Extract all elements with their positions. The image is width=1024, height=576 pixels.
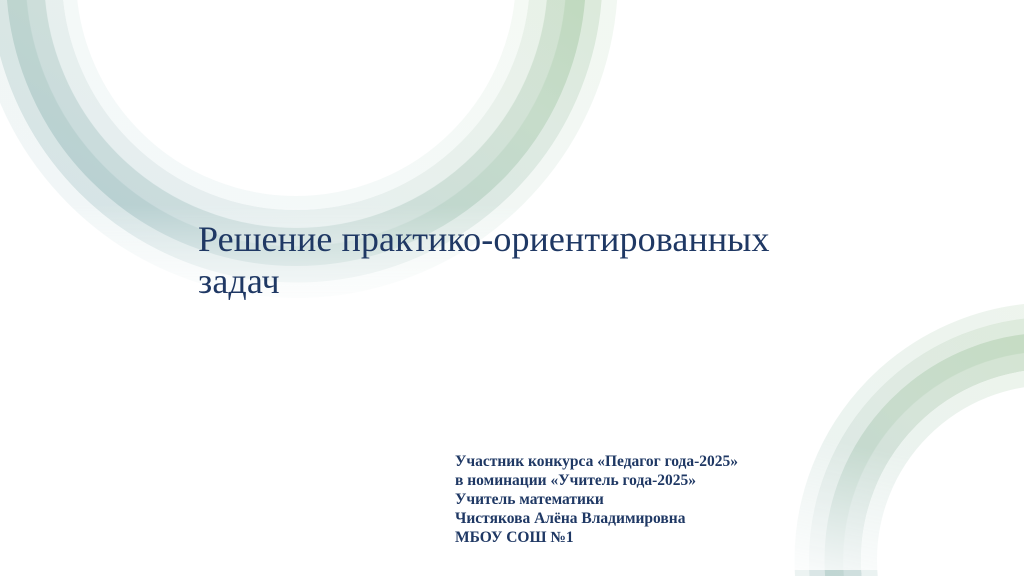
subtitle-line-position: Учитель математики xyxy=(455,490,875,509)
subtitle-line-school: МБОУ СОШ №1 xyxy=(455,528,875,547)
presentation-slide: Решение практико-ориентированных задач У… xyxy=(0,0,1024,576)
title-line-1: Решение практико-ориентированных xyxy=(198,218,858,260)
subtitle-line-competition: Участник конкурса «Педагог года-2025» xyxy=(455,452,875,471)
slide-title: Решение практико-ориентированных задач xyxy=(198,218,858,302)
subtitle-line-author-name: Чистякова Алёна Владимировна xyxy=(455,509,875,528)
slide-subtitle: Участник конкурса «Педагог года-2025» в … xyxy=(455,452,875,547)
subtitle-line-nomination: в номинации «Учитель года-2025» xyxy=(455,471,875,490)
title-line-2: задач xyxy=(198,260,858,302)
